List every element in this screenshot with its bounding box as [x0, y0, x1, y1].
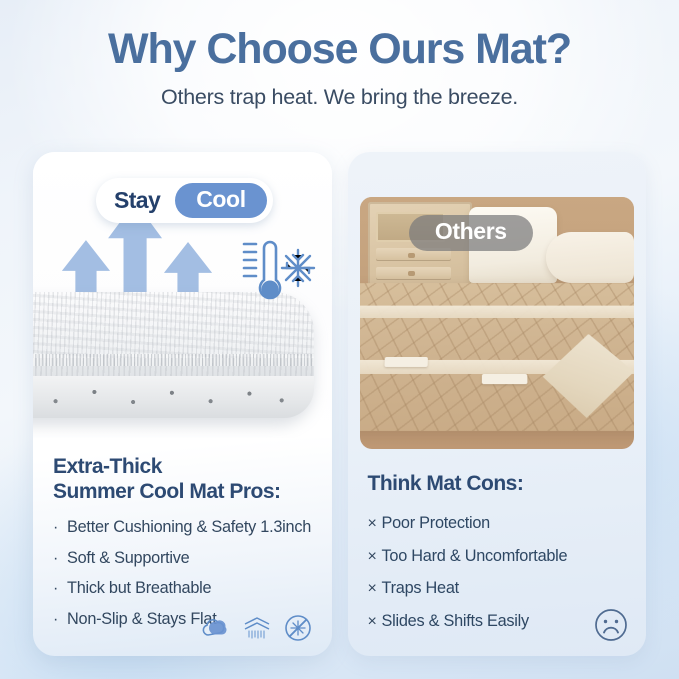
- bolster-pillow: [546, 232, 634, 282]
- thermometer-snowflake-icon: [230, 234, 316, 308]
- mat-perforated-foam-base: [33, 376, 314, 418]
- page-subtitle: Others trap heat. We bring the breeze.: [0, 85, 679, 110]
- sad-face-icon: [594, 608, 628, 642]
- list-item: · Soft & Supportive: [53, 549, 314, 569]
- list-item-label: Slides & Shifts Easily: [382, 612, 529, 632]
- cons-list: × Poor Protection × Too Hard & Uncomfort…: [368, 514, 629, 631]
- comparison-infographic: Why Choose Ours Mat? Others trap heat. W…: [0, 0, 679, 679]
- quilt-care-label: [385, 357, 428, 367]
- list-item-label: Better Cushioning & Safety 1.3inch: [67, 518, 311, 538]
- page-title: Why Choose Ours Mat?: [0, 26, 679, 72]
- pros-list: · Better Cushioning & Safety 1.3inch · S…: [53, 518, 314, 629]
- cons-heading: Think Mat Cons:: [368, 471, 629, 496]
- list-item: × Too Hard & Uncomfortable: [368, 547, 629, 567]
- pros-card: Stay Cool: [33, 152, 332, 656]
- list-item-label: Traps Heat: [382, 579, 459, 599]
- list-item: · Thick but Breathable: [53, 579, 314, 599]
- list-item-label: Non-Slip & Stays Flat: [67, 610, 216, 630]
- cross-marker-icon: ×: [368, 547, 382, 566]
- pros-heading: Extra-Thick Summer Cool Mat Pros:: [53, 454, 314, 504]
- comparison-cards: Stay Cool: [33, 152, 646, 656]
- cross-marker-icon: ×: [368, 579, 382, 598]
- pros-heading-line1: Extra-Thick: [53, 455, 162, 478]
- snowflake-icon: [282, 250, 314, 286]
- cons-text-block: Think Mat Cons: × Poor Protection × Too …: [348, 449, 647, 656]
- quilt-folded-corner: [542, 334, 634, 418]
- badge-cool-label: Cool: [175, 183, 267, 218]
- pros-heading-line2: Summer Cool Mat Pros:: [53, 480, 281, 503]
- feature-icons: [200, 614, 312, 642]
- thermometer-bulb: [261, 281, 278, 298]
- list-item-label: Thick but Breathable: [67, 579, 211, 599]
- cons-card: Others Think Mat Cons: × Poor Protection…: [348, 152, 647, 656]
- stay-cool-badge: Stay Cool: [96, 178, 273, 223]
- mat-illustration: [33, 292, 314, 418]
- bullet-marker: ·: [53, 610, 67, 629]
- cloud-soft-icon: [200, 615, 230, 641]
- pros-product-photo: Stay Cool: [33, 152, 332, 438]
- pros-text-block: Extra-Thick Summer Cool Mat Pros: · Bett…: [33, 438, 332, 656]
- cross-marker-icon: ×: [368, 612, 382, 631]
- anti-mite-icon: [284, 614, 312, 642]
- quilt-care-label: [482, 374, 528, 384]
- breathable-layers-icon: [242, 615, 272, 641]
- list-item: · Better Cushioning & Safety 1.3inch: [53, 518, 314, 538]
- headboard-drawer: [376, 267, 451, 280]
- bullet-marker: ·: [53, 518, 67, 537]
- bullet-marker: ·: [53, 579, 67, 598]
- bullet-marker: ·: [53, 549, 67, 568]
- quilt-stripe: [360, 306, 635, 319]
- header: Why Choose Ours Mat? Others trap heat. W…: [0, 0, 679, 110]
- list-item: × Poor Protection: [368, 514, 629, 534]
- list-item: × Slides & Shifts Easily: [368, 612, 629, 632]
- badge-stay-label: Stay: [114, 187, 175, 214]
- cons-product-photo: Others: [360, 197, 635, 449]
- list-item-label: Too Hard & Uncomfortable: [382, 547, 568, 567]
- beige-quilted-mat: [360, 283, 635, 430]
- list-item-label: Poor Protection: [382, 514, 490, 534]
- list-item: × Traps Heat: [368, 579, 629, 599]
- others-badge: Others: [409, 215, 533, 251]
- cross-marker-icon: ×: [368, 514, 382, 533]
- list-item-label: Soft & Supportive: [67, 549, 189, 569]
- mat-side-rim: [33, 354, 314, 366]
